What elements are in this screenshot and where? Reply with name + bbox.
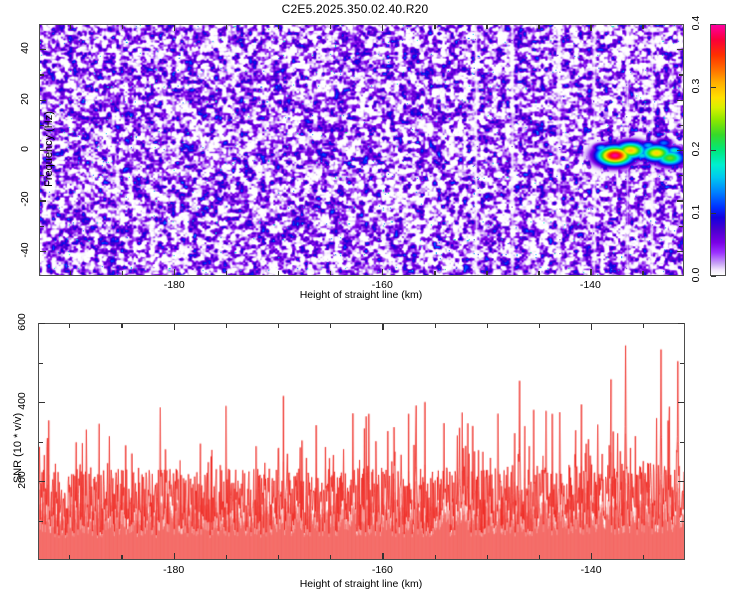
spectrogram-y-tick-right — [677, 251, 683, 252]
snr-trace — [39, 324, 684, 559]
spectrogram-x-axis-title: Height of straight line (km) — [300, 289, 423, 301]
snr-x-tick — [591, 553, 592, 559]
colorbar-tick — [711, 24, 716, 25]
spectrogram-x-minor-tick — [226, 271, 227, 275]
snr-x-minor-tick — [487, 555, 488, 559]
colorbar-tick-label: 0.4 — [690, 3, 702, 43]
spectrogram-y-minor-tick — [40, 74, 44, 75]
spectrogram-y-tick — [40, 100, 46, 101]
spectrogram-x-minor-tick-top — [486, 25, 487, 29]
snr-x-minor-tick-top — [278, 324, 279, 328]
spectrogram-x-tick-label: -140 — [565, 279, 615, 291]
snr-y-tick-right — [678, 323, 684, 324]
snr-x-minor-tick-top — [330, 324, 331, 328]
snr-y-tick-right — [678, 481, 684, 482]
spectrogram-plot-area — [39, 24, 684, 276]
spectrogram-image — [40, 25, 683, 275]
spectrogram-x-tick-top — [382, 25, 383, 31]
spectrogram-y-minor-tick-right — [679, 74, 683, 75]
spectrogram-y-tick-label: 20 — [19, 79, 31, 119]
snr-y-tick — [39, 323, 45, 324]
colorbar-tick-label: 0.2 — [690, 129, 702, 169]
snr-x-minor-tick — [121, 555, 122, 559]
spectrogram-x-minor-tick — [538, 271, 539, 275]
spectrogram-y-tick — [40, 251, 46, 252]
snr-y-tick-right — [678, 402, 684, 403]
snr-y-minor-tick — [39, 363, 43, 364]
snr-x-minor-tick-top — [69, 324, 70, 328]
snr-x-tick-top — [174, 324, 175, 330]
spectrogram-x-tick-top — [590, 25, 591, 31]
spectrogram-y-minor-tick — [40, 226, 44, 227]
spectrogram-x-tick-label: -180 — [149, 279, 199, 291]
spectrogram-x-minor-tick — [486, 271, 487, 275]
spectrogram-x-minor-tick — [70, 271, 71, 275]
spectrogram-y-minor-tick-right — [679, 175, 683, 176]
snr-x-minor-tick-top — [539, 324, 540, 328]
spectrogram-y-tick — [40, 49, 46, 50]
spectrogram-x-minor-tick-top — [226, 25, 227, 29]
page-title: C2E5.2025.350.02.40.R20 — [0, 2, 710, 16]
snr-y-minor-tick-right — [680, 521, 684, 522]
snr-y-minor-tick — [39, 442, 43, 443]
snr-x-tick-label: -180 — [149, 564, 199, 576]
snr-x-minor-tick — [643, 555, 644, 559]
spectrogram-x-minor-tick-top — [122, 25, 123, 29]
spectrogram-x-minor-tick — [122, 271, 123, 275]
snr-x-tick-label: -160 — [357, 564, 407, 576]
spectrogram-x-minor-tick-top — [330, 25, 331, 29]
snr-x-minor-tick-top — [643, 324, 644, 328]
snr-x-tick-top — [382, 324, 383, 330]
spectrogram-y-tick-label: 40 — [19, 28, 31, 68]
spectrogram-x-tick-top — [174, 25, 175, 31]
snr-x-minor-tick — [278, 555, 279, 559]
snr-y-tick — [39, 402, 45, 403]
spectrogram-y-tick-right — [677, 100, 683, 101]
spectrogram-x-minor-tick-top — [538, 25, 539, 29]
snr-y-minor-tick — [39, 521, 43, 522]
snr-plot-area — [38, 323, 685, 560]
colorbar-tick — [711, 87, 716, 88]
snr-y-tick-label: 600 — [16, 302, 28, 342]
snr-x-minor-tick-top — [121, 324, 122, 328]
snr-x-minor-tick — [330, 555, 331, 559]
snr-x-tick-label: -140 — [566, 564, 616, 576]
spectrogram-y-tick — [40, 200, 46, 201]
snr-y-minor-tick-right — [680, 363, 684, 364]
spectrogram-y-tick-right — [677, 150, 683, 151]
snr-x-minor-tick-top — [487, 324, 488, 328]
snr-x-tick — [174, 553, 175, 559]
snr-y-tick — [39, 481, 45, 482]
snr-x-axis-title: Height of straight line (km) — [300, 578, 423, 590]
colorbar-tick-label: 0.0 — [690, 255, 702, 295]
colorbar-tick — [711, 276, 716, 277]
spectrogram-x-minor-tick-top — [434, 25, 435, 29]
colorbar-tick — [711, 213, 716, 214]
snr-y-minor-tick-right — [680, 442, 684, 443]
spectrogram-x-minor-tick-top — [70, 25, 71, 29]
spectrogram-y-tick-right — [677, 49, 683, 50]
snr-x-minor-tick — [435, 555, 436, 559]
spectrogram-y-axis-title: Frequency (Hz) — [43, 111, 55, 187]
spectrogram-y-tick-label: -40 — [19, 230, 31, 270]
figure-root: C2E5.2025.350.02.40.R20 40200-20-40-180-… — [0, 0, 750, 600]
spectrogram-y-minor-tick-right — [679, 226, 683, 227]
spectrogram-y-minor-tick-right — [679, 125, 683, 126]
spectrogram-x-minor-tick-top — [278, 25, 279, 29]
snr-x-minor-tick — [226, 555, 227, 559]
spectrogram-x-tick — [174, 269, 175, 275]
snr-x-minor-tick-top — [435, 324, 436, 328]
spectrogram-y-tick-right — [677, 200, 683, 201]
spectrogram-x-minor-tick — [434, 271, 435, 275]
spectrogram-x-minor-tick-top — [642, 25, 643, 29]
colorbar-tick-label: 0.3 — [690, 66, 702, 106]
spectrogram-x-minor-tick — [642, 271, 643, 275]
snr-x-tick — [382, 553, 383, 559]
snr-x-minor-tick — [539, 555, 540, 559]
spectrogram-y-tick-label: -20 — [19, 179, 31, 219]
spectrogram-y-tick-label: 0 — [19, 129, 31, 169]
colorbar-tick-label: 0.1 — [690, 192, 702, 232]
snr-x-tick-top — [591, 324, 592, 330]
snr-y-axis-title: SNR (10 * v/v) — [12, 413, 24, 483]
spectrogram-x-minor-tick — [330, 271, 331, 275]
snr-x-minor-tick-top — [226, 324, 227, 328]
spectrogram-x-tick — [590, 269, 591, 275]
spectrogram-x-tick — [382, 269, 383, 275]
snr-x-minor-tick — [69, 555, 70, 559]
colorbar-tick — [711, 150, 716, 151]
spectrogram-x-minor-tick — [278, 271, 279, 275]
